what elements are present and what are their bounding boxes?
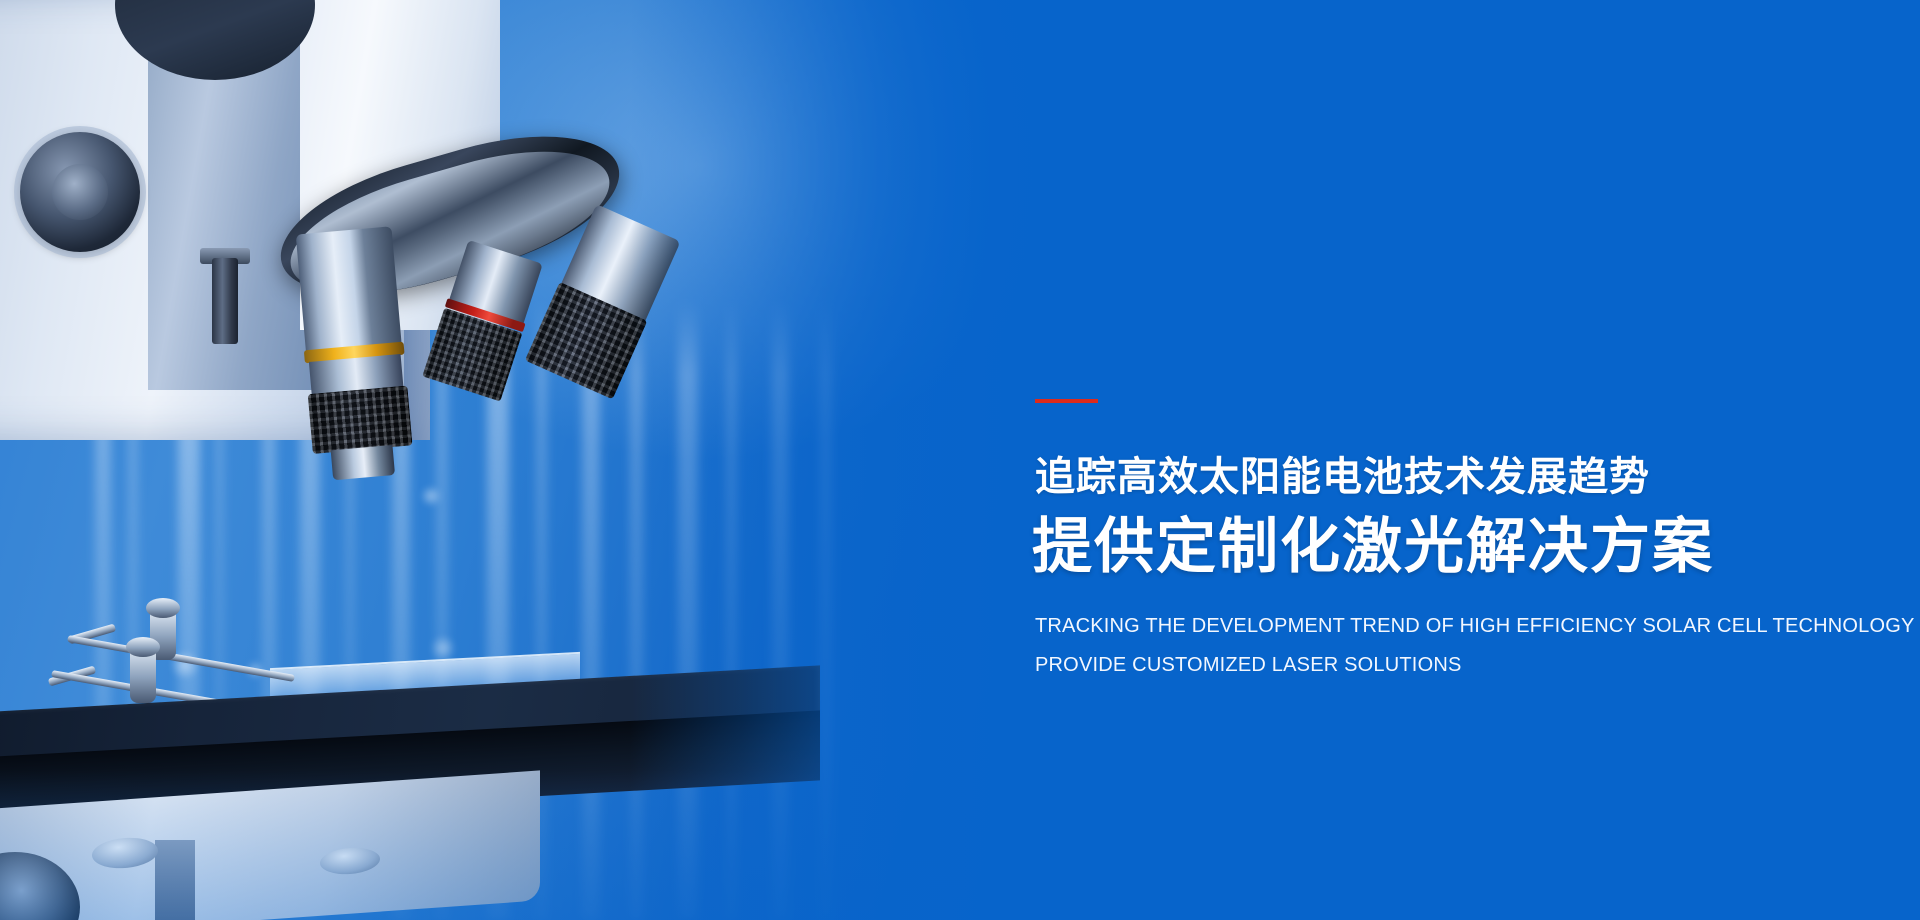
banner-headline-chinese: 提供定制化激光解决方案 — [1032, 512, 1714, 581]
microscope-screw-shaft — [212, 258, 238, 344]
objective-barrel — [296, 226, 402, 354]
objective-knurled-grip — [308, 385, 413, 453]
microscope-photo — [0, 0, 1060, 920]
banner-english-line-1: TRACKING THE DEVELOPMENT TREND OF HIGH E… — [1035, 616, 1915, 636]
banner-subtitle-chinese: 追踪高效太阳能电池技术发展趋势 — [1035, 457, 1650, 497]
stage-clip-knob — [126, 637, 160, 657]
banner-text-block: 追踪高效太阳能电池技术发展趋势 提供定制化激光解决方案 TRACKING THE… — [1035, 0, 1895, 920]
photo-edge-fade — [630, 0, 1060, 920]
objective-lens-yellow-band — [290, 226, 419, 474]
banner-english-line-2: PROVIDE CUSTOMIZED LASER SOLUTIONS — [1035, 655, 1462, 675]
stage-clip-knob — [146, 598, 180, 618]
objective-front-lens — [331, 445, 395, 480]
accent-rule — [1035, 399, 1098, 403]
microscope-focus-knob — [20, 132, 140, 252]
hero-banner: 追踪高效太阳能电池技术发展趋势 提供定制化激光解决方案 TRACKING THE… — [0, 0, 1920, 920]
